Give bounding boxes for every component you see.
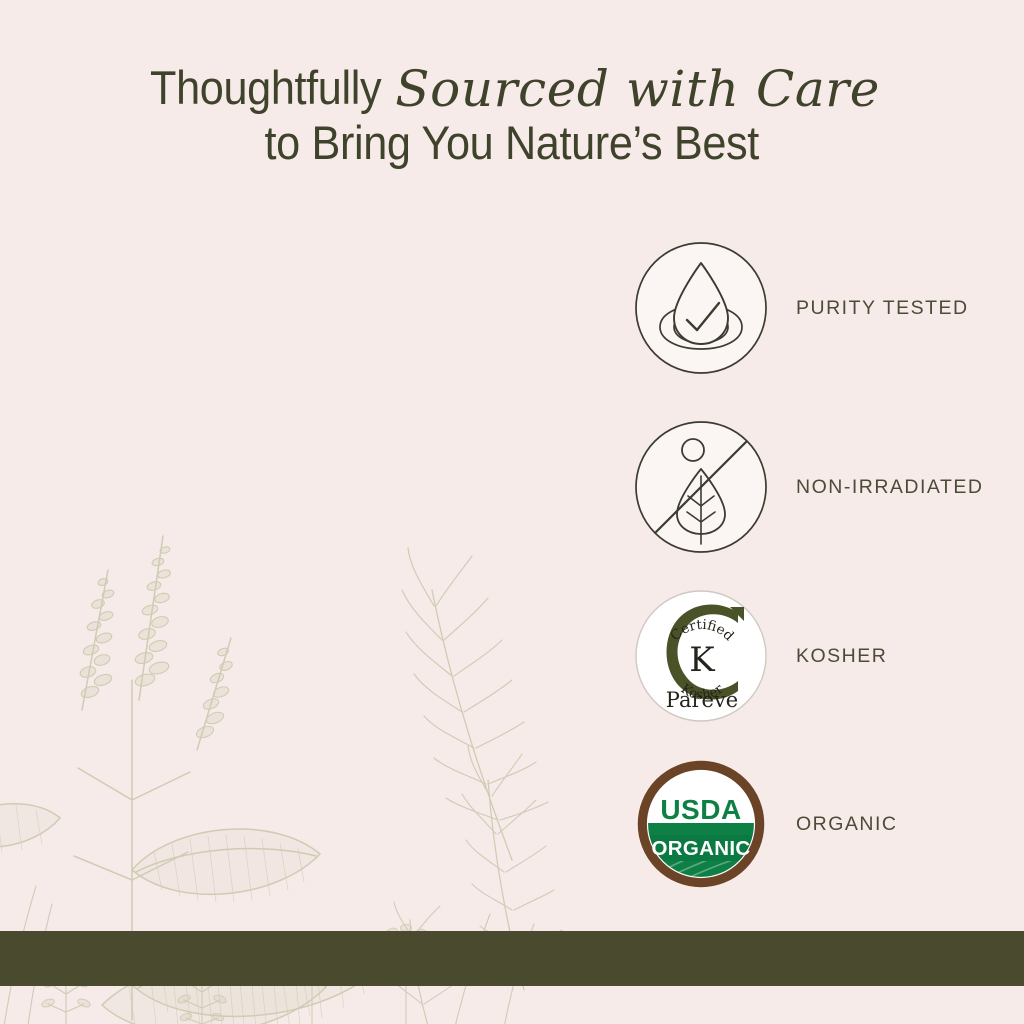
badge-non-irradiated: NON-IRRADIATED — [634, 420, 983, 554]
bottom-accent-bar — [0, 931, 1024, 986]
svg-text:Pareve: Pareve — [666, 688, 738, 712]
svg-text:ORGANIC: ORGANIC — [652, 837, 751, 860]
badge-label-purity-tested: PURITY TESTED — [796, 297, 969, 320]
badge-label-organic: ORGANIC — [796, 813, 898, 836]
badge-purity-tested: PURITY TESTED — [634, 241, 969, 375]
headline-line-1: ThoughtfullySourced with Care — [0, 58, 1024, 116]
promo-graphic: ThoughtfullySourced with Care to Bring Y… — [0, 0, 1024, 1024]
svg-text:K: K — [689, 640, 715, 680]
badge-label-non-irradiated: NON-IRRADIATED — [796, 476, 983, 499]
badge-organic: USDA ORGANIC ORGANIC — [634, 757, 898, 891]
badge-label-kosher: KOSHER — [796, 645, 887, 668]
water-droplet-check-ripple-icon — [634, 241, 768, 375]
kosher-mark: K Certified Kosher Pareve — [634, 589, 768, 723]
headline-script: Sourced with Care — [391, 60, 884, 118]
ck-pareve-kosher-seal-icon: K Certified Kosher Pareve — [634, 589, 768, 723]
leaf-no-radiation-slash-icon — [634, 420, 768, 554]
purity-tested-mark — [634, 241, 768, 375]
headline-line-2: to Bring You Nature’s Best — [0, 116, 1024, 171]
headline-sans-1: Thoughtfully — [150, 61, 381, 116]
page-title: ThoughtfullySourced with Care to Bring Y… — [0, 58, 1024, 171]
headline-sans-2: to Bring You Nature’s Best — [265, 116, 759, 171]
badge-kosher: K Certified Kosher Pareve KOSHER — [634, 589, 887, 723]
organic-mark: USDA ORGANIC — [634, 757, 768, 891]
usda-organic-seal-icon: USDA ORGANIC — [634, 757, 768, 891]
svg-text:USDA: USDA — [660, 794, 741, 825]
non-irradiated-mark — [634, 420, 768, 554]
